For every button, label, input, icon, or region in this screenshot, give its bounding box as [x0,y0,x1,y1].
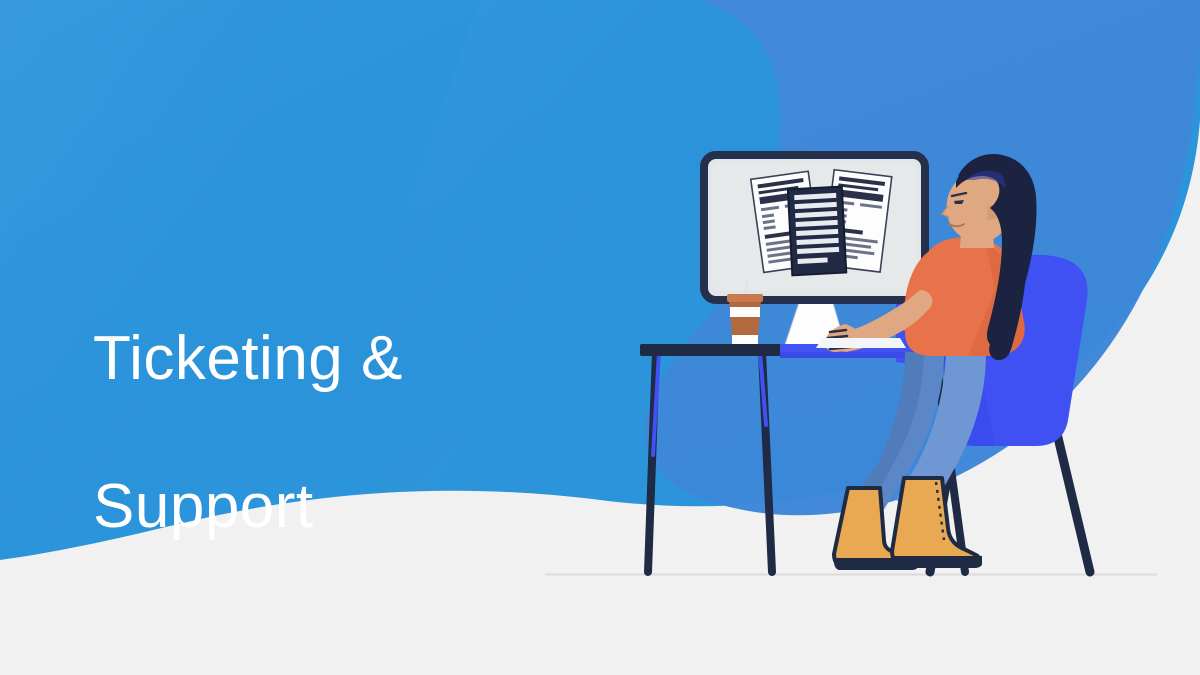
boot-front [892,478,982,568]
keyboard [816,338,906,348]
slide-canvas: Ticketing & Support [0,0,1200,675]
page-title-line-2: Support [93,470,523,544]
coffee-cup-sleeve [730,307,760,317]
desk-top-left [640,344,790,356]
desk-leg-left [648,352,656,572]
page-title: Ticketing & Support [93,248,523,618]
chair-leg-rear [1055,425,1090,572]
coffee-cup-lid [727,294,763,302]
page-title-line-1: Ticketing & [93,322,523,396]
nose [942,206,949,217]
